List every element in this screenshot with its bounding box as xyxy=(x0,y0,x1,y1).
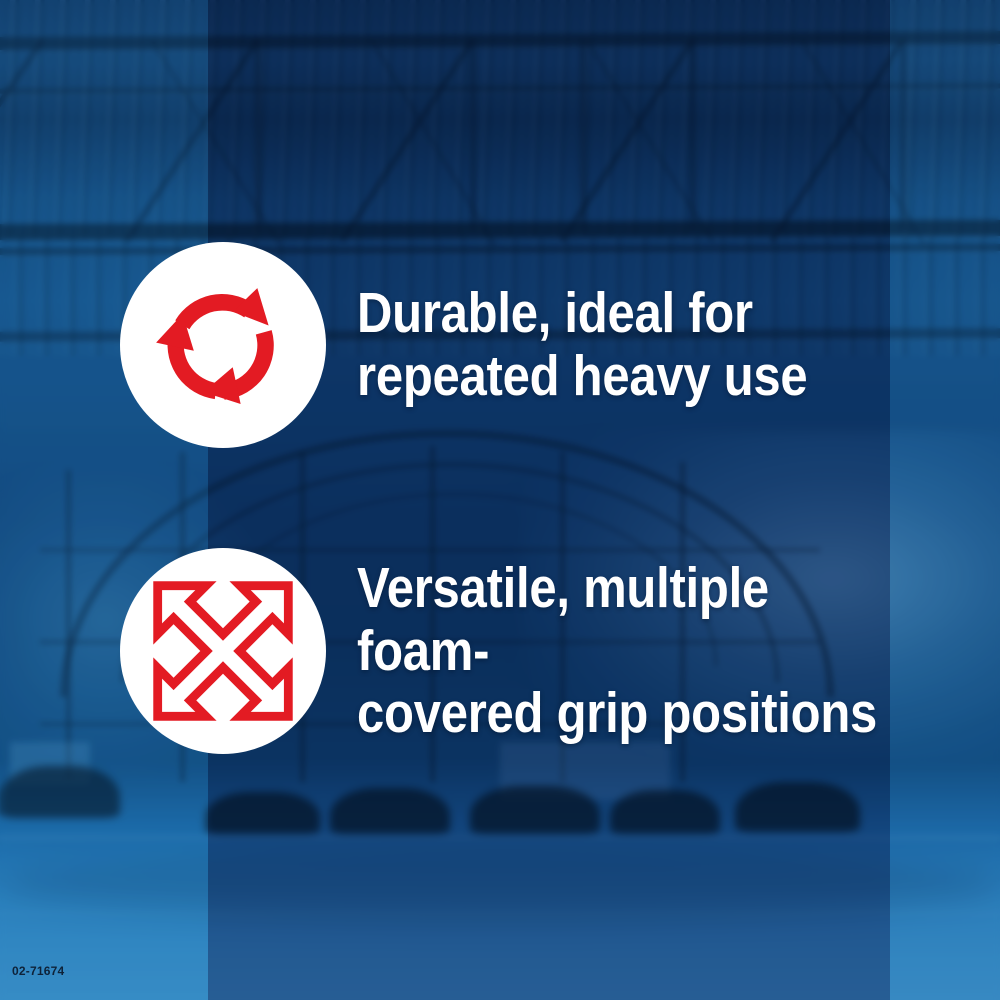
feature-label-versatility: Versatile, multiple foam- covered grip p… xyxy=(357,557,910,745)
color-band-center xyxy=(208,0,890,1000)
color-band-left xyxy=(0,0,208,1000)
product-feature-banner: Durable, ideal for repeated heavy use Ve… xyxy=(0,0,1000,1000)
color-band-right xyxy=(890,0,1000,1000)
feature-icon-badge xyxy=(120,242,326,448)
feature-row-versatility: Versatile, multiple foam- covered grip p… xyxy=(120,548,1000,754)
feature-row-durability: Durable, ideal for repeated heavy use xyxy=(120,242,881,448)
feature-icon-badge xyxy=(120,548,326,754)
feature-label-durability: Durable, ideal for repeated heavy use xyxy=(357,282,807,407)
circular-arrows-icon xyxy=(147,269,299,421)
four-way-expand-arrows-icon xyxy=(152,580,294,722)
product-code: 02-71674 xyxy=(12,964,64,978)
